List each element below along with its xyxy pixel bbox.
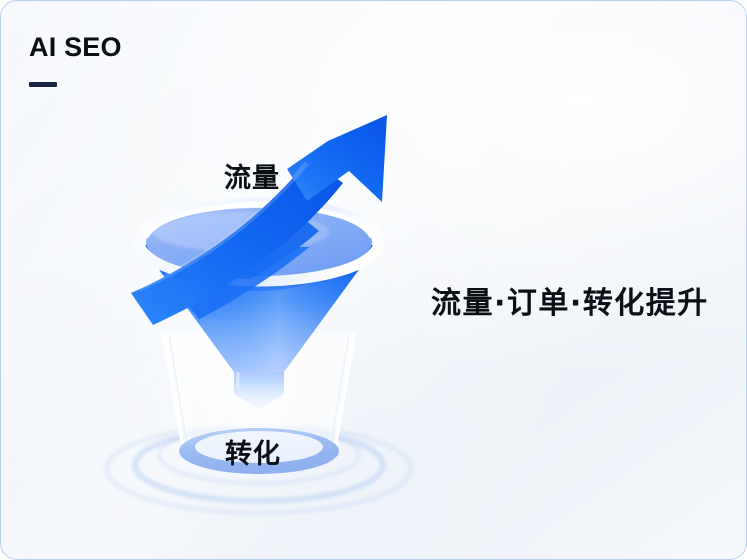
funnel-label-conversion: 转化	[225, 432, 281, 471]
ai-seo-card: AI SEO	[0, 0, 747, 560]
title-underline-rule	[29, 82, 57, 87]
header: AI SEO	[29, 34, 122, 87]
page-title: AI SEO	[29, 34, 122, 61]
funnel-label-traffic: 流量	[224, 156, 280, 195]
tagline-text: 流量·订单·转化提升	[431, 278, 709, 322]
